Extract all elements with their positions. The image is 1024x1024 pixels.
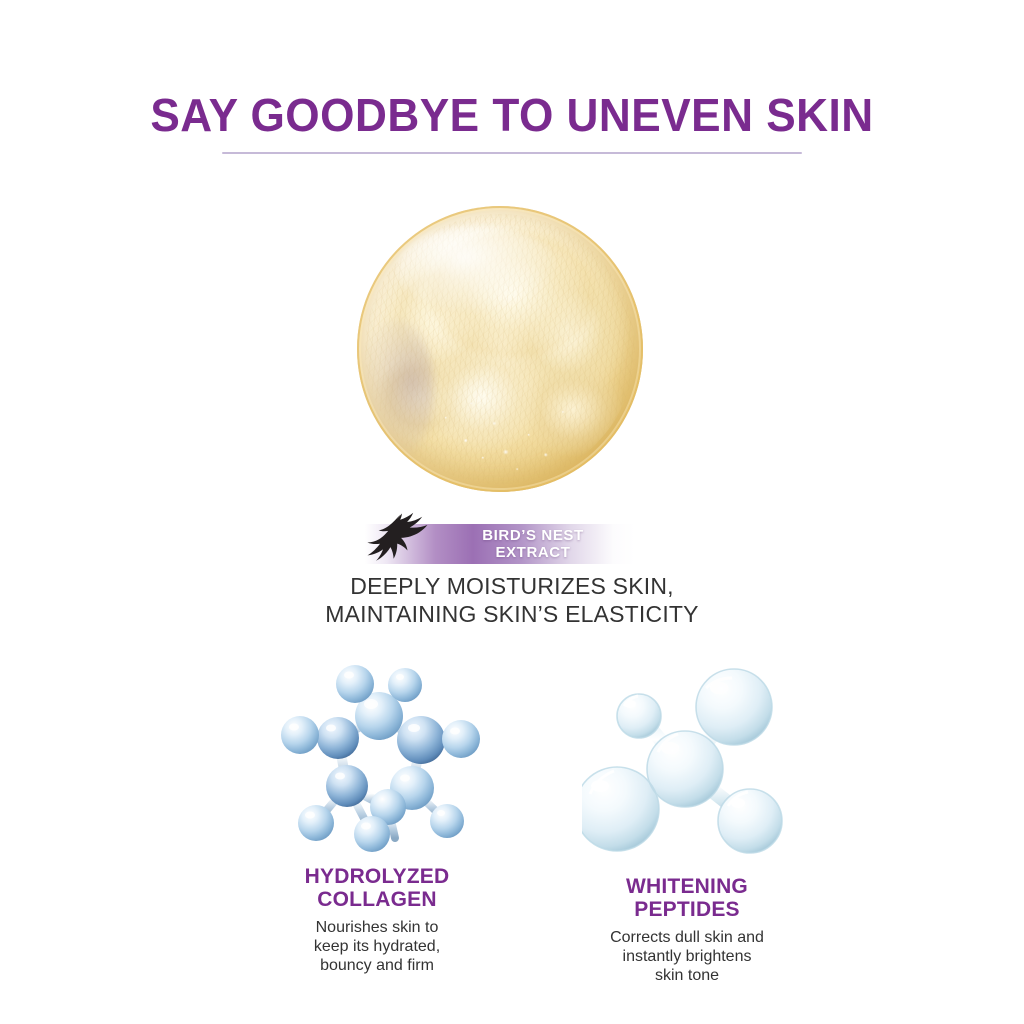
ingredient-desc-line3: bouncy and firm	[314, 956, 440, 975]
ingredient-desc-line3: skin tone	[610, 966, 764, 985]
ingredient-title-line1: WHITENING	[626, 875, 748, 898]
golden-droplet	[357, 206, 643, 492]
ingredient-description: Corrects dull skin and instantly brighte…	[610, 928, 764, 985]
ingredient-card-hydrolyzed-collagen: HYDROLYZED COLLAGEN Nourishes skin to ke…	[232, 660, 522, 985]
hero-caption: DEEPLY MOISTURIZES SKIN, MAINTAINING SKI…	[0, 572, 1024, 628]
birds-nest-sphere-image	[357, 206, 643, 492]
ingredient-title: WHITENING PEPTIDES	[626, 875, 748, 921]
badge-label-line2: EXTRACT	[443, 544, 623, 561]
badge-label-line1: BIRD’S NEST	[443, 527, 623, 544]
ingredient-title-line2: COLLAGEN	[305, 888, 450, 911]
badge-label: BIRD’S NEST EXTRACT	[443, 527, 623, 561]
tetrahedral-molecule-icon	[582, 666, 792, 861]
hero-caption-line2: MAINTAINING SKIN’S ELASTICITY	[0, 600, 1024, 628]
ingredient-desc-line2: keep its hydrated,	[314, 937, 440, 956]
swallow-bird-icon	[360, 508, 442, 570]
ingredient-title-line1: HYDROLYZED	[305, 865, 450, 888]
birds-nest-extract-badge: BIRD’S NEST EXTRACT	[365, 524, 635, 564]
ingredient-columns: HYDROLYZED COLLAGEN Nourishes skin to ke…	[232, 660, 832, 985]
ingredient-title-line2: PEPTIDES	[626, 898, 748, 921]
page-title: SAY GOODBYE TO UNEVEN SKIN	[20, 88, 1003, 142]
hexagonal-molecule-icon	[275, 660, 485, 855]
ingredient-card-whitening-peptides: WHITENING PEPTIDES Corrects dull skin an…	[542, 660, 832, 985]
ingredient-title: HYDROLYZED COLLAGEN	[305, 865, 450, 911]
ingredient-desc-line2: instantly brightens	[610, 947, 764, 966]
title-divider	[222, 152, 802, 154]
birds-nest-strands	[365, 214, 635, 484]
hero-caption-line1: DEEPLY MOISTURIZES SKIN,	[0, 572, 1024, 600]
ingredient-desc-line1: Nourishes skin to	[314, 918, 440, 937]
ingredient-description: Nourishes skin to keep its hydrated, bou…	[314, 918, 440, 975]
ingredient-desc-line1: Corrects dull skin and	[610, 928, 764, 947]
